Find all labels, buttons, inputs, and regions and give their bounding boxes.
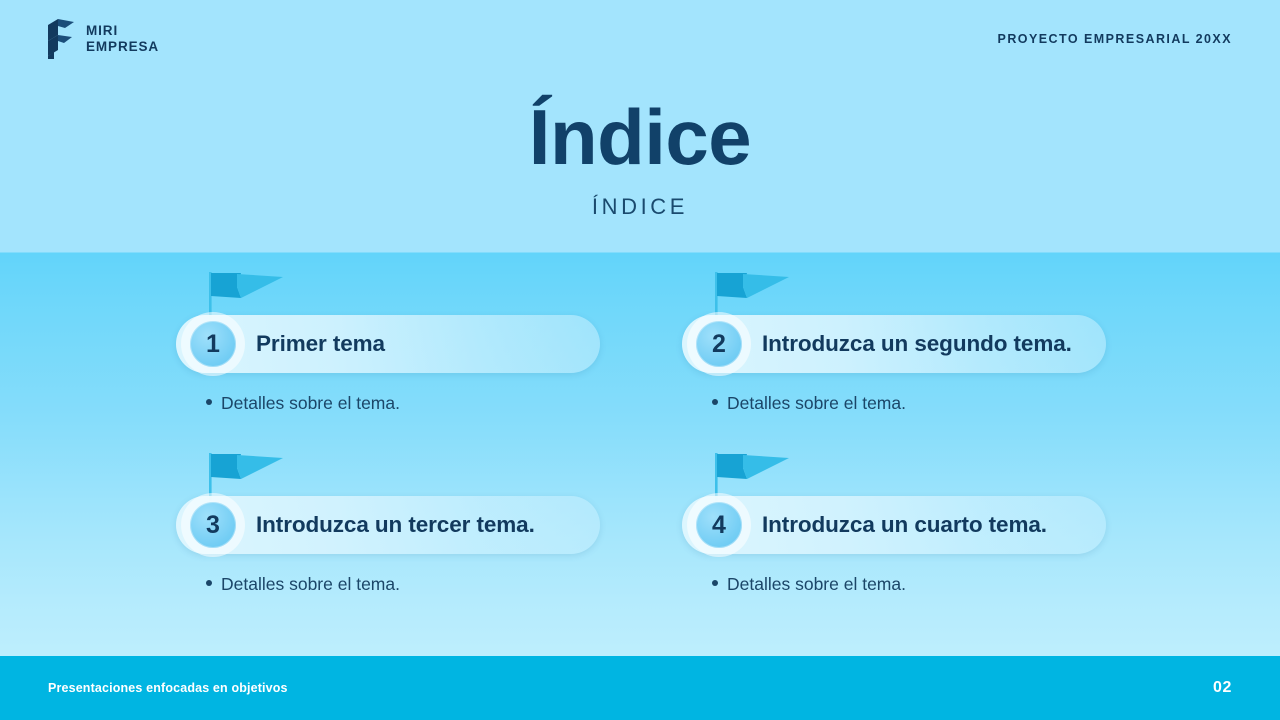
agenda-card-inner: 1 Primer tema: [176, 315, 385, 373]
agenda-number-badge: 4: [690, 496, 748, 554]
agenda-card-inner: 4 Introduzca un cuarto tema.: [682, 496, 1047, 554]
agenda-item-title: Introduzca un tercer tema.: [256, 512, 535, 538]
page-title: Índice: [0, 98, 1280, 176]
agenda-number-badge: 2: [690, 315, 748, 373]
agenda-item-detail-text: Detalles sobre el tema.: [221, 574, 400, 595]
agenda-number: 1: [190, 321, 236, 367]
agenda-card[interactable]: 2 Introduzca un segundo tema.: [682, 315, 1106, 373]
bullet-dot-icon: [712, 580, 718, 586]
agenda-row-2: 3 Introduzca un tercer tema. Detalles so…: [0, 449, 1280, 630]
slide-header: MIRI EMPRESA PROYECTO EMPRESARIAL 20XX: [0, 0, 1280, 78]
agenda-number: 3: [190, 502, 236, 548]
brand-name: MIRI EMPRESA: [86, 23, 159, 55]
agenda-card[interactable]: 1 Primer tema: [176, 315, 600, 373]
brand-logo: MIRI EMPRESA: [48, 19, 159, 59]
agenda-number-badge: 3: [184, 496, 242, 554]
agenda-card-inner: 2 Introduzca un segundo tema.: [682, 315, 1072, 373]
slide-footer: Presentaciones enfocadas en objetivos 02: [0, 656, 1280, 720]
slide: MIRI EMPRESA PROYECTO EMPRESARIAL 20XX Í…: [0, 0, 1280, 720]
agenda-number-badge: 1: [184, 315, 242, 373]
agenda-item-detail: Detalles sobre el tema.: [206, 574, 400, 595]
bullet-dot-icon: [206, 399, 212, 405]
brand-name-line2: EMPRESA: [86, 39, 159, 55]
agenda-item-detail-text: Detalles sobre el tema.: [221, 393, 400, 414]
agenda-item-detail: Detalles sobre el tema.: [712, 574, 906, 595]
bullet-dot-icon: [206, 580, 212, 586]
page-subtitle: ÍNDICE: [0, 194, 1280, 220]
page-number: 02: [1213, 679, 1232, 697]
brand-name-line1: MIRI: [86, 23, 159, 39]
agenda-list: 1 Primer tema Detalles sobre el tema.: [0, 268, 1280, 630]
agenda-item-title: Introduzca un segundo tema.: [762, 331, 1072, 357]
agenda-number: 4: [696, 502, 742, 548]
agenda-row-1: 1 Primer tema Detalles sobre el tema.: [0, 268, 1280, 449]
agenda-item-detail-text: Detalles sobre el tema.: [727, 393, 906, 414]
agenda-item-detail: Detalles sobre el tema.: [712, 393, 906, 414]
agenda-card[interactable]: 3 Introduzca un tercer tema.: [176, 496, 600, 554]
agenda-card[interactable]: 4 Introduzca un cuarto tema.: [682, 496, 1106, 554]
miri-logo-mark-icon: [48, 19, 74, 59]
agenda-item-detail: Detalles sobre el tema.: [206, 393, 400, 414]
agenda-item-title: Introduzca un cuarto tema.: [762, 512, 1047, 538]
agenda-card-inner: 3 Introduzca un tercer tema.: [176, 496, 535, 554]
agenda-item-title: Primer tema: [256, 331, 385, 357]
agenda-item-detail-text: Detalles sobre el tema.: [727, 574, 906, 595]
footer-tagline: Presentaciones enfocadas en objetivos: [48, 681, 288, 695]
agenda-number: 2: [696, 321, 742, 367]
bullet-dot-icon: [712, 399, 718, 405]
project-kicker: PROYECTO EMPRESARIAL 20XX: [998, 32, 1232, 46]
